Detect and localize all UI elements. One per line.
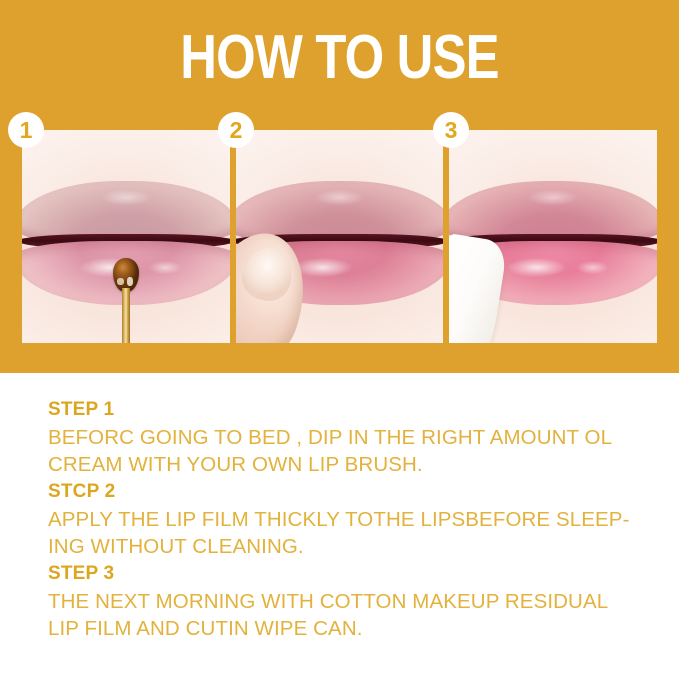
step-2-body: APPLY THE LIP FILM THICKLY TOTHE LIPSBEF… (48, 506, 648, 560)
step-1-heading: STEP 1 (48, 396, 648, 424)
step-1-body: BEFORC GOING TO BED , DIP IN THE RIGHT A… (48, 424, 648, 478)
instructions-block: STEP 1 BEFORC GOING TO BED , DIP IN THE … (48, 396, 648, 642)
how-to-use-infographic: HOW TO USE (0, 0, 679, 679)
lip-gloss-highlight (495, 254, 578, 282)
lips-illustration-2 (236, 130, 444, 343)
step-2-heading: STCP 2 (48, 478, 648, 506)
step-badge-2: 2 (218, 112, 254, 148)
step-3-body: THE NEXT MORNING WITH COTTON MAKEUP RESI… (48, 588, 648, 642)
wand-handle (122, 288, 130, 343)
step-3-heading: STEP 3 (48, 560, 648, 588)
step-badge-3: 3 (433, 112, 469, 148)
step-badge-1: 1 (8, 112, 44, 148)
step-image-panel-2 (236, 130, 444, 343)
lips-illustration-1 (22, 130, 230, 343)
lips-illustration-3 (449, 130, 657, 343)
fingernail (236, 242, 298, 306)
page-title: HOW TO USE (61, 26, 618, 90)
lip-gloss-highlight-secondary (570, 258, 616, 277)
steps-image-strip (22, 130, 657, 343)
wand-bulb (113, 258, 139, 292)
step-image-panel-1 (22, 130, 230, 343)
step-image-panel-3 (449, 130, 657, 343)
lip-gloss-highlight-secondary (142, 258, 188, 277)
lip-applicator-wand-icon (113, 258, 139, 343)
